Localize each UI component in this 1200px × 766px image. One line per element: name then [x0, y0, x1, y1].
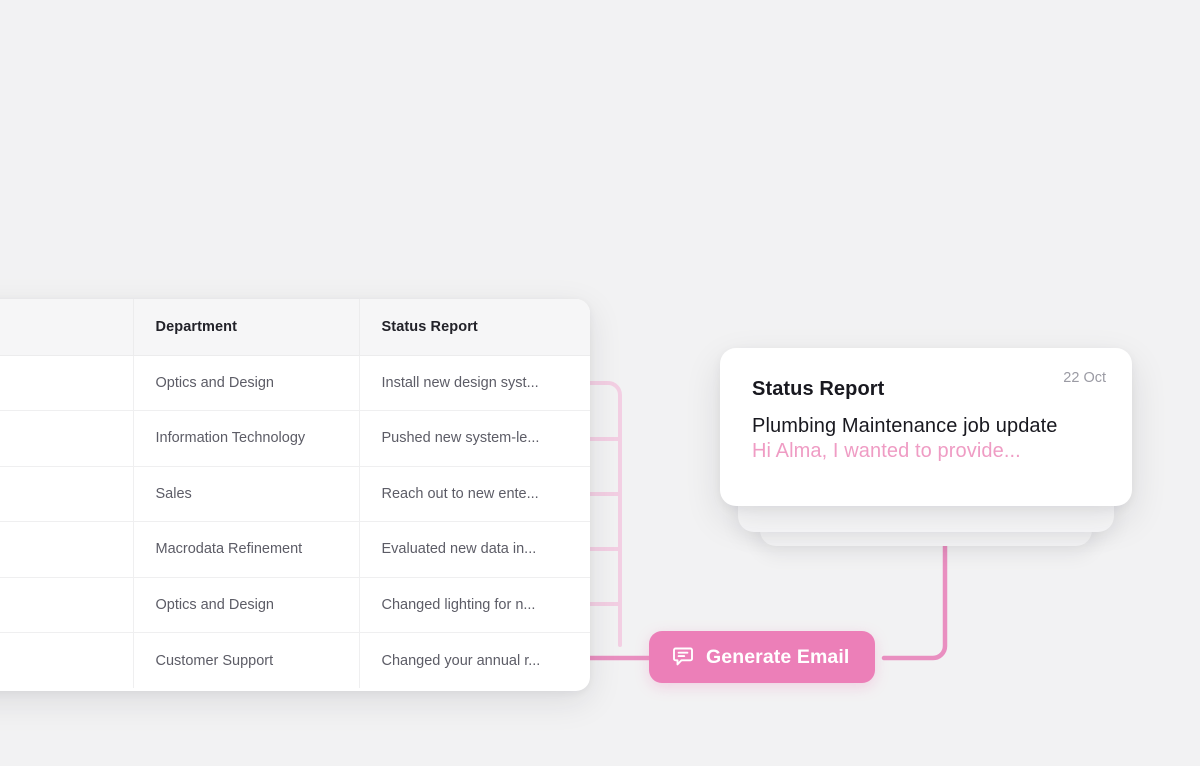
cell-department: Optics and Design: [133, 355, 359, 411]
cell-status: Changed lighting for n...: [359, 577, 590, 633]
cell-name: ks: [0, 355, 133, 411]
column-header-status[interactable]: Status Report: [359, 299, 590, 355]
cell-status: Pushed new system-le...: [359, 411, 590, 467]
cell-status: Reach out to new ente...: [359, 466, 590, 522]
cell-department: Sales: [133, 466, 359, 522]
chat-bubble-icon: [671, 645, 695, 669]
cell-name: rattle: [0, 466, 133, 522]
cell-name: mberg: [0, 633, 133, 689]
email-card-date: 22 Oct: [1063, 370, 1106, 386]
table-row[interactable]: orenzo Optics and Design Changed lightin…: [0, 577, 590, 633]
cell-name: Von Itter: [0, 411, 133, 467]
email-card[interactable]: 22 Oct Status Report Plumbing Maintenanc…: [720, 348, 1132, 506]
cell-status: Evaluated new data in...: [359, 522, 590, 578]
generate-email-button-label: Generate Email: [706, 646, 849, 669]
table-row[interactable]: ahard Macrodata Refinement Evaluated new…: [0, 522, 590, 578]
cell-department: Optics and Design: [133, 577, 359, 633]
cell-name: ahard: [0, 522, 133, 578]
cell-department: Customer Support: [133, 633, 359, 689]
status-table: r Name Department Status Report ks Optic…: [0, 299, 590, 688]
email-card-preview: Hi Alma, I wanted to provide...: [752, 440, 1100, 463]
canvas: r Name Department Status Report ks Optic…: [0, 0, 1200, 766]
email-card-subject: Plumbing Maintenance job update: [752, 415, 1100, 438]
email-card-stack: 22 Oct Status Report Plumbing Maintenanc…: [720, 348, 1132, 506]
cell-status: Changed your annual r...: [359, 633, 590, 689]
column-header-department[interactable]: Department: [133, 299, 359, 355]
cell-department: Macrodata Refinement: [133, 522, 359, 578]
email-card-title: Status Report: [752, 378, 1100, 401]
table-header: r Name Department Status Report: [0, 299, 590, 355]
table-row[interactable]: mberg Customer Support Changed your annu…: [0, 633, 590, 689]
column-header-name[interactable]: r Name: [0, 299, 133, 355]
table-row[interactable]: rattle Sales Reach out to new ente...: [0, 466, 590, 522]
table-row[interactable]: ks Optics and Design Install new design …: [0, 355, 590, 411]
cell-department: Information Technology: [133, 411, 359, 467]
cell-name: orenzo: [0, 577, 133, 633]
cell-status: Install new design syst...: [359, 355, 590, 411]
table-row[interactable]: Von Itter Information Technology Pushed …: [0, 411, 590, 467]
table-body: ks Optics and Design Install new design …: [0, 355, 590, 688]
employee-status-table-panel: r Name Department Status Report ks Optic…: [0, 299, 590, 691]
table-header-row: r Name Department Status Report: [0, 299, 590, 355]
generate-email-button[interactable]: Generate Email: [649, 631, 875, 683]
